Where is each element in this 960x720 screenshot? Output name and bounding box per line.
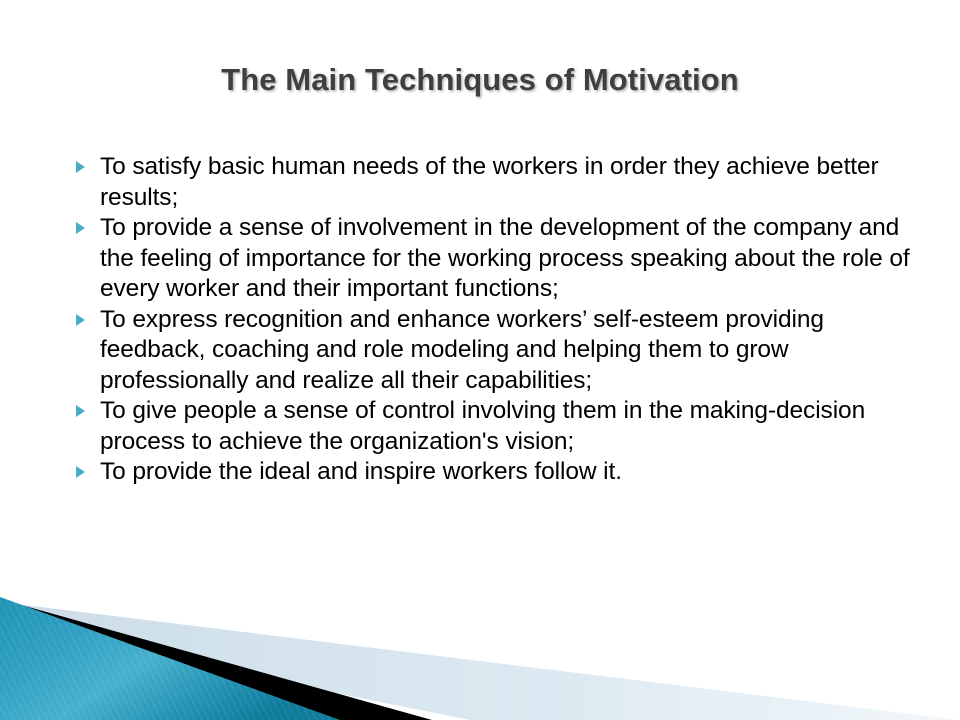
list-item: To provide the ideal and inspire workers… (70, 457, 915, 488)
corner-graphic-svg (0, 590, 960, 720)
list-item-text: To give people a sense of control involv… (100, 396, 915, 457)
list-item-text: To express recognition and enhance worke… (100, 305, 915, 397)
triangle-right-icon (76, 222, 85, 234)
list-item: To give people a sense of control involv… (70, 396, 915, 457)
list-item-text: To provide a sense of involvement in the… (100, 213, 915, 305)
deco-black-stripe (0, 599, 432, 720)
triangle-right-icon (76, 466, 85, 478)
deco-teal-triangle (0, 597, 340, 720)
bullet-list: To satisfy basic human needs of the work… (70, 152, 915, 488)
list-item: To satisfy basic human needs of the work… (70, 152, 915, 213)
list-item-text: To provide the ideal and inspire workers… (100, 457, 915, 488)
slide-canvas: The Main Techniques of Motivation To sat… (0, 0, 960, 720)
deco-pale-band (0, 602, 960, 720)
triangle-right-icon (76, 314, 85, 326)
page-title: The Main Techniques of Motivation (221, 62, 739, 98)
deco-teal-texture (0, 597, 340, 720)
list-item: To express recognition and enhance worke… (70, 305, 915, 397)
list-item: To provide a sense of involvement in the… (70, 213, 915, 305)
list-item-text: To satisfy basic human needs of the work… (100, 152, 915, 213)
title-area: The Main Techniques of Motivation (0, 62, 960, 98)
triangle-right-icon (76, 405, 85, 417)
triangle-right-icon (76, 161, 85, 173)
bottom-left-corner-graphic (0, 590, 960, 720)
